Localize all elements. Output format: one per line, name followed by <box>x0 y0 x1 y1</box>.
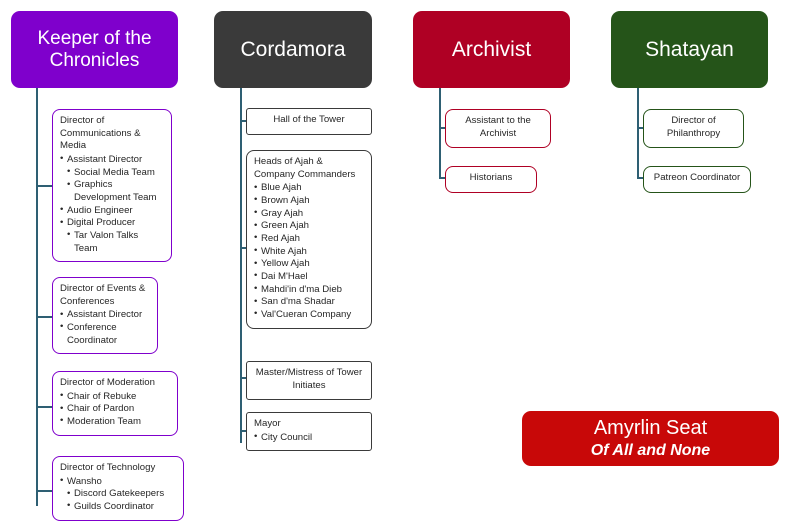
list-item: Blue Ajah <box>254 182 364 195</box>
node-director-of-events-conferences[interactable]: Director of Events & Conferences Assista… <box>52 277 158 354</box>
connector-trunk-cordamora <box>240 88 242 443</box>
node-title: Director of Moderation <box>60 377 170 390</box>
node-director-of-philanthropy[interactable]: Director of Philanthropy <box>643 109 744 148</box>
node-hall-of-the-tower[interactable]: Hall of the Tower <box>246 108 372 135</box>
node-title: Assistant to the Archivist <box>453 115 543 140</box>
list-item: Graphics Development Team <box>60 179 164 204</box>
list-item: Val'Cueran Company <box>254 309 364 322</box>
node-title: Master/Mistress of Tower Initiates <box>254 367 364 392</box>
list-item: Dai M'Hael <box>254 271 364 284</box>
node-director-of-moderation[interactable]: Director of Moderation Chair of Rebuke C… <box>52 371 178 436</box>
node-item-list: Blue Ajah Brown Ajah Gray Ajah Green Aja… <box>254 182 364 321</box>
node-patreon-coordinator[interactable]: Patreon Coordinator <box>643 166 751 193</box>
connector-branch-keeper-2 <box>36 316 53 318</box>
node-master-mistress-of-tower-initiates[interactable]: Master/Mistress of Tower Initiates <box>246 361 372 400</box>
node-mayor[interactable]: Mayor City Council <box>246 412 372 451</box>
list-item: Chair of Pardon <box>60 403 170 416</box>
node-title: Historians <box>453 172 529 185</box>
header-box-shatayan[interactable]: Shatayan <box>611 11 768 88</box>
list-item: Assistant Director <box>60 309 150 322</box>
list-item: Wansho <box>60 476 176 489</box>
list-item: Red Ajah <box>254 233 364 246</box>
node-title: Director of Technology <box>60 462 176 475</box>
connector-trunk-shatayan <box>637 88 639 179</box>
list-item: San d'ma Shadar <box>254 296 364 309</box>
node-title: Director of Philanthropy <box>651 115 736 140</box>
list-item: White Ajah <box>254 246 364 259</box>
org-chart-canvas: Keeper of the Chronicles Director of Com… <box>0 0 800 532</box>
list-item: Chair of Rebuke <box>60 391 170 404</box>
list-item: Digital Producer <box>60 217 164 230</box>
list-item: Yellow Ajah <box>254 258 364 271</box>
list-item: Tar Valon Talks Team <box>60 230 164 255</box>
amyrlin-seat-box[interactable]: Amyrlin Seat Of All and None <box>522 411 779 466</box>
node-title: Hall of the Tower <box>254 114 364 127</box>
node-item-list: Assistant Director Conference Coordinato… <box>60 309 150 347</box>
amyrlin-seat-subtitle: Of All and None <box>591 441 710 460</box>
node-director-of-technology[interactable]: Director of Technology Wansho Discord Ga… <box>52 456 184 521</box>
list-item: Audio Engineer <box>60 205 164 218</box>
node-assistant-to-the-archivist[interactable]: Assistant to the Archivist <box>445 109 551 148</box>
node-heads-of-ajah-company-commanders[interactable]: Heads of Ajah & Company Commanders Blue … <box>246 150 372 329</box>
node-title: Director of Communications & Media <box>60 115 164 153</box>
node-title: Mayor <box>254 418 364 431</box>
list-item: Moderation Team <box>60 416 170 429</box>
list-item: Discord Gatekeepers <box>60 488 176 501</box>
list-item: Guilds Coordinator <box>60 501 176 514</box>
connector-trunk-keeper <box>36 88 38 506</box>
list-item: Conference Coordinator <box>60 322 150 347</box>
list-item: Gray Ajah <box>254 208 364 221</box>
node-item-list: Chair of Rebuke Chair of Pardon Moderati… <box>60 391 170 429</box>
list-item: Brown Ajah <box>254 195 364 208</box>
connector-branch-keeper-3 <box>36 406 53 408</box>
node-title: Patreon Coordinator <box>651 172 743 185</box>
node-item-list: Wansho Discord Gatekeepers Guilds Coordi… <box>60 476 176 514</box>
node-title: Director of Events & Conferences <box>60 283 150 308</box>
connector-trunk-archivist <box>439 88 441 179</box>
header-box-keeper-of-the-chronicles[interactable]: Keeper of the Chronicles <box>11 11 178 88</box>
list-item: City Council <box>254 432 364 445</box>
connector-branch-keeper-4 <box>36 490 53 492</box>
list-item: Social Media Team <box>60 167 164 180</box>
header-label-shatayan: Shatayan <box>619 38 760 62</box>
header-label-archivist: Archivist <box>421 38 562 62</box>
node-title: Heads of Ajah & Company Commanders <box>254 156 364 181</box>
node-item-list: Assistant Director Social Media Team Gra… <box>60 154 164 255</box>
header-label-cordamora: Cordamora <box>222 38 364 62</box>
list-item: Assistant Director <box>60 154 164 167</box>
node-historians[interactable]: Historians <box>445 166 537 193</box>
connector-branch-keeper-1 <box>36 185 53 187</box>
list-item: Mahdi'in d'ma Dieb <box>254 284 364 297</box>
header-box-archivist[interactable]: Archivist <box>413 11 570 88</box>
list-item: Green Ajah <box>254 220 364 233</box>
node-item-list: City Council <box>254 432 364 445</box>
node-director-of-communications-media[interactable]: Director of Communications & Media Assis… <box>52 109 172 262</box>
header-label-keeper: Keeper of the Chronicles <box>19 28 170 71</box>
amyrlin-seat-title: Amyrlin Seat <box>594 417 707 440</box>
header-box-cordamora[interactable]: Cordamora <box>214 11 372 88</box>
